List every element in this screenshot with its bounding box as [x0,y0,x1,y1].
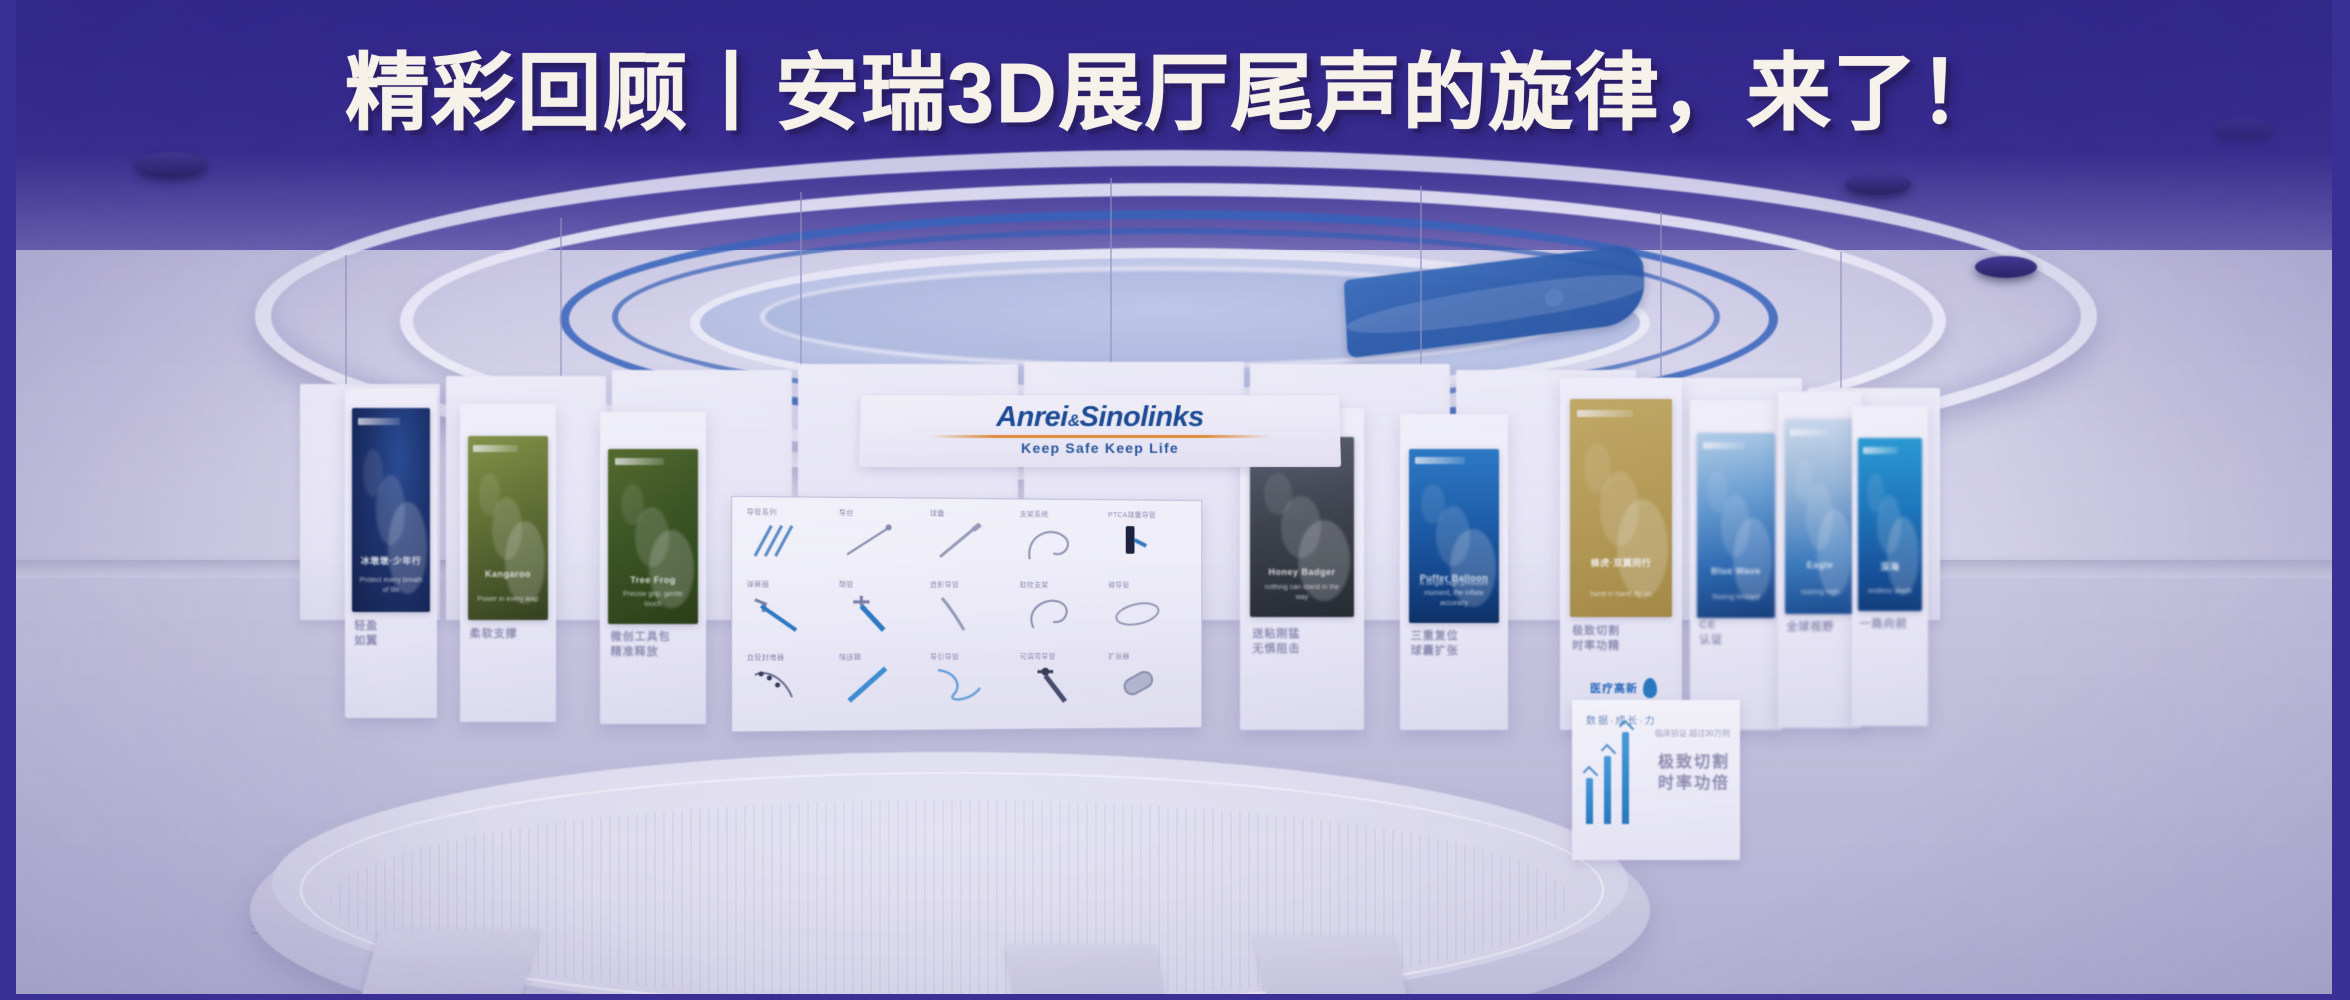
product-label: 鞘管 [839,580,854,590]
product-cell[interactable]: 微导管 [1106,581,1191,650]
poster-subtitle: flowing forward [1704,593,1769,603]
product-label: 血管封堵器 [747,652,785,662]
brand-name-part2: Sinolinks [1079,401,1203,433]
poster-subtitle: Precise grip, gentle touch [616,590,691,610]
product-cell[interactable]: 造影导管 [928,580,1016,650]
poster-frog: Tree FrogPrecise grip, gentle touch [608,449,697,624]
stage-riser-panel [1252,935,1408,1000]
poster-pylon-wave[interactable]: Blue Waveflowing forwardCE 认证 [1690,400,1782,730]
product-label: 弹簧圈 [747,580,770,590]
ceiling-spotlight-icon [1975,256,2037,278]
poster-pylon-kangaroo[interactable]: KangarooPower in every leap柔软支撑 [460,404,556,722]
poster-title: Honey Badger [1258,566,1345,578]
product-label: 导丝 [839,508,854,518]
sub-brand-logo: 医疗高新 [1590,678,1657,698]
poster-puffer: Puffer BalloonA single high pressure mom… [1409,449,1500,623]
product-cell[interactable]: 导管系列 [745,507,835,578]
product-label: PTCA球囊导管 [1108,510,1156,520]
product-cell[interactable]: 弹簧圈 [745,580,835,651]
poster-caption: 极致切割 时率功精 [1572,624,1670,654]
poster-caption: 送粘刚猛 无惧阻击 [1252,627,1351,657]
poster-caption: 微创工具包 精准释放 [611,630,696,660]
poster-subtitle: Power in every leap [474,595,542,605]
product-cell[interactable]: 血管封堵器 [745,652,835,723]
product-cell[interactable]: 导丝 [837,508,926,578]
product-cell[interactable]: PTCA球囊导管 [1106,510,1191,579]
poster-kangaroo: KangarooPower in every leap [468,436,549,620]
medical-device-icon [843,522,896,568]
medical-device-icon [1112,524,1163,569]
poster-eagle: Eaglesoaring high [1785,419,1856,614]
product-label: 导管系列 [747,507,777,517]
bar-chart-caption: 极致切割 时率功倍 [1642,752,1730,794]
medical-device-icon [1112,665,1163,710]
poster-bee-eater: 蜂虎·双翼同行hand in hand, fly on [1570,399,1672,617]
medical-device-icon [1024,523,1075,568]
product-label: 造影导管 [930,580,959,590]
bar-chart-bar [1622,732,1629,824]
product-cell[interactable]: 扩张器 [1106,651,1191,720]
product-grid: 导管系列导丝球囊支架系统PTCA球囊导管弹簧圈鞘管造影导管取栓支架微导管血管封堵… [745,507,1192,723]
poster-sea: 深海endless depth [1858,438,1922,611]
poster-title: Tree Frog [616,574,691,586]
poster-brand-mark [1703,442,1745,449]
product-label: 支架系统 [1020,509,1049,519]
bar-chart-bar [1586,778,1593,824]
poster-subject-shape [1733,518,1772,601]
poster-title: 冰墩墩·少年行 [359,555,424,567]
poster-brand-mark [358,418,400,425]
product-label: 取栓支架 [1020,580,1049,590]
poster-caption: 全球视野 [1786,620,1853,635]
poster-subtitle: hand in hand, fly on [1578,590,1664,600]
poster-brand-mark [1790,429,1829,436]
poster-subject-shape [1887,517,1919,595]
poster-pylon-sea[interactable]: 深海endless depth一路向前 [1852,406,1928,726]
medical-device-icon [751,594,804,640]
medical-device-icon [1024,665,1075,710]
medical-device-icon [843,666,896,712]
poster-caption: 三重复位 球囊扩张 [1411,629,1497,659]
medical-device-icon [1024,594,1075,639]
ceiling-spotlight-icon [135,152,207,178]
brand-tagline: Keep Safe Keep Life [859,440,1341,456]
product-label: 扩张器 [1108,651,1129,661]
product-display-board[interactable]: 导管系列导丝球囊支架系统PTCA球囊导管弹簧圈鞘管造影导管取栓支架微导管血管封堵… [731,496,1202,732]
poster-pylon-panda[interactable]: 冰墩墩·少年行Protect every breath of life轻盈 如翼 [345,388,437,718]
poster-brand-mark [1415,457,1465,464]
poster-title: Kangaroo [474,568,542,580]
product-label: 球囊 [930,509,945,519]
bar-chart-bars [1586,732,1629,824]
product-cell[interactable]: 球囊 [928,509,1016,579]
poster-pylon-puffer[interactable]: Puffer BalloonA single high pressure mom… [1400,414,1508,730]
poster-caption: 一路向前 [1860,617,1921,632]
product-label: 微导管 [1108,581,1129,591]
poster-subtitle: nothing can stand in the way [1258,583,1345,603]
poster-caption: 轻盈 如翼 [354,619,428,649]
bar-chart-subtext: 临床验证 超过30万例 [1655,728,1730,739]
ceiling-spotlight-icon [1845,173,1911,195]
growth-bar-graphic: 医疗高新 数据·成长·力 临床验证 超过30万例 极致切割 时率功倍 [1572,700,1740,860]
product-label: 可调弯导管 [1020,651,1056,661]
medical-device-icon [751,521,804,567]
poster-subject-shape [1817,509,1852,597]
product-cell[interactable]: 支架系统 [1018,509,1105,578]
poster-pylon-eagle[interactable]: Eaglesoaring high全球视野 [1778,392,1862,728]
brand-rule-divider [927,435,1273,438]
poster-subject-shape [1617,499,1668,597]
brand-name: Anrei&Sinolinks [860,401,1340,434]
poster-title: 蜂虎·双翼同行 [1578,557,1664,569]
medical-device-icon [843,594,896,639]
product-label: 导引导管 [930,652,959,662]
poster-pylon-frog[interactable]: Tree FrogPrecise grip, gentle touch微创工具包… [600,412,706,724]
medical-device-icon [934,594,986,639]
brand-sign: Anrei&Sinolinks Keep Safe Keep Life [859,395,1341,467]
medical-device-icon [934,666,986,711]
poster-subtitle: A single high pressure moment, the infla… [1416,579,1492,609]
medical-device-icon [1112,595,1163,640]
page-title: 精彩回顾丨安瑞3D展厅尾声的旋律，来了！ [0,26,2350,147]
stage-riser-panel [360,930,540,1000]
medical-device-icon [751,666,804,712]
poster-brand-mark [1577,410,1633,417]
exhibition-hall-banner: 二〇一〇年 · 安瑞医疗正式成立二〇一二年 · 第一款导管产品上市二〇一四年 ·… [0,0,2350,1000]
poster-title: Eagle [1790,559,1849,571]
poster-brand-mark [615,458,664,465]
poster-title: Blue Wave [1704,565,1769,577]
product-cell[interactable]: 鞘管 [837,580,926,650]
poster-brand-mark [1863,447,1898,454]
product-cell[interactable]: 输送鞘 [837,652,926,722]
medical-device-icon [934,523,986,568]
poster-title: 深海 [1863,561,1917,573]
product-cell[interactable]: 可调弯导管 [1018,651,1105,720]
poster-caption: 柔软支撑 [470,627,547,642]
product-cell[interactable]: 导引导管 [928,652,1016,722]
droplet-icon [1643,678,1657,698]
brand-name-part1: Anrei [996,401,1068,433]
poster-caption: CE 认证 [1699,618,1773,648]
poster-brand-mark [473,445,517,452]
poster-subtitle: soaring high [1790,588,1849,598]
bar-chart-bar [1604,756,1611,824]
stage-riser-panel [1005,945,1165,1000]
brand-ampersand: & [1068,411,1080,430]
poster-wave: Blue Waveflowing forward [1697,433,1774,618]
poster-subject-shape [505,521,545,604]
poster-panda: 冰墩墩·少年行Protect every breath of life [352,408,429,613]
sub-brand-label: 医疗高新 [1590,680,1638,696]
poster-subtitle: Protect every breath of life [359,576,424,596]
product-cell[interactable]: 取栓支架 [1018,580,1105,649]
poster-subtitle: endless depth [1863,587,1917,597]
product-label: 输送鞘 [839,652,861,662]
